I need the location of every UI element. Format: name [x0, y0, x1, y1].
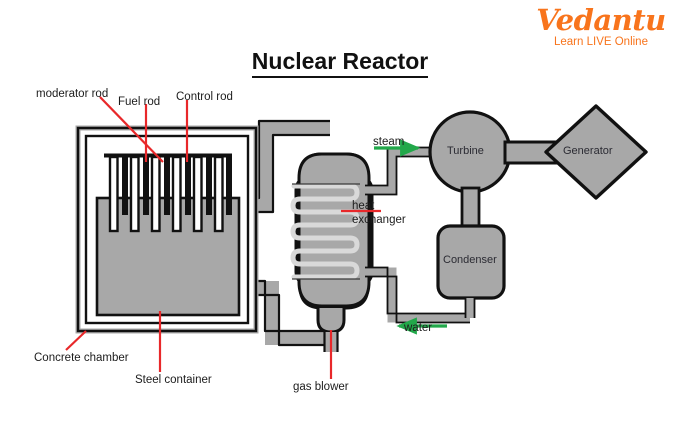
flow-label-water: water [404, 322, 432, 334]
callout-label-control-rod: Control rod [176, 91, 233, 105]
heat-exchanger-label-line2: exchanger [352, 214, 406, 228]
heat-exchanger-label-line1: heat [352, 200, 406, 214]
heat-exchanger-vessel [296, 154, 372, 308]
turbine-condenser-pipe [462, 188, 479, 228]
component-label-generator: Generator [563, 145, 613, 157]
component-label-turbine: Turbine [447, 145, 484, 157]
callout-label-gas-blower: gas blower [293, 381, 349, 395]
leader-concrete-chamber [66, 331, 86, 350]
callout-label-moderator-rod: moderator rod [36, 88, 108, 102]
component-label-condenser: Condenser [443, 254, 497, 266]
callout-label-concrete-chamber: Concrete chamber [34, 352, 129, 366]
diagram-canvas: Vedantu Learn LIVE Online Nuclear Reacto… [0, 0, 680, 430]
callout-label-steel-container: Steel container [135, 374, 212, 388]
callout-label-heat-exchanger: heat exchanger [352, 200, 406, 227]
callout-label-fuel-rod: Fuel rod [118, 96, 160, 110]
condenser-outlet-pipe [466, 298, 475, 318]
flow-label-steam: steam [373, 136, 404, 148]
